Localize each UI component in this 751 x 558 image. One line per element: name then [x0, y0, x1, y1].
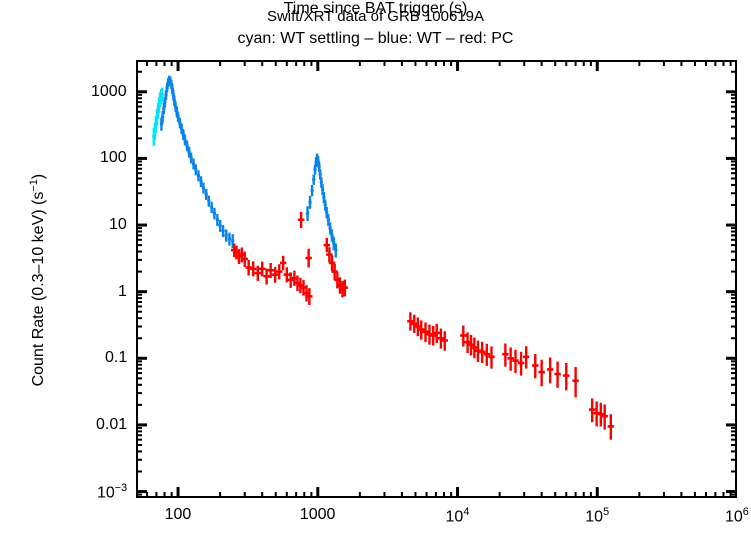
data-plot-svg [136, 60, 737, 498]
x-tick-label: 105 [585, 506, 609, 526]
y-tick-label: 100 [100, 149, 127, 167]
y-tick-label: 1000 [91, 83, 127, 101]
x-tick-label: 100 [165, 506, 192, 524]
x-tick-label: 106 [725, 506, 749, 526]
y-tick-label: 0.1 [105, 349, 127, 367]
series-pc [231, 212, 614, 440]
chart-subtitle-legend: cyan: WT settling – blue: WT – red: PC [0, 30, 751, 48]
y-axis-label: Count Rate (0.3–10 keV) (s−1) [28, 60, 48, 500]
y-tick-label: 0.01 [96, 416, 127, 434]
x-tick-label: 1000 [300, 506, 336, 524]
x-tick-label: 104 [446, 506, 470, 526]
plot-area [136, 60, 737, 498]
axis-frame [137, 61, 737, 498]
figure-canvas: Swift/XRT data of GRB 100619A cyan: WT s… [0, 0, 751, 558]
chart-title: Swift/XRT data of GRB 100619A [0, 8, 751, 25]
y-tick-label: 1 [118, 283, 127, 301]
y-tick-label: 10−3 [97, 482, 127, 502]
series-wt [160, 76, 338, 258]
y-tick-label: 10 [109, 216, 127, 234]
